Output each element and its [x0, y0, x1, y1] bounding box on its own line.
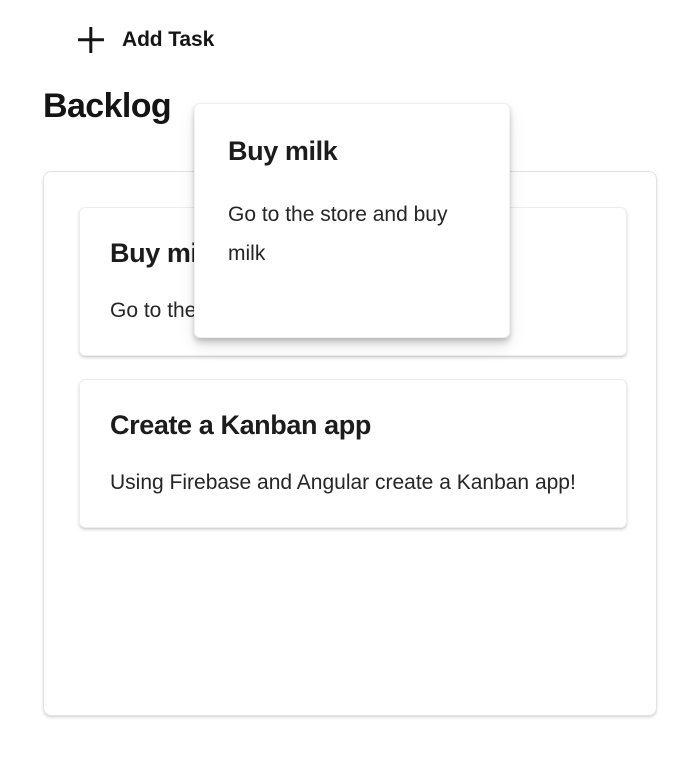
task-card-description: Using Firebase and Angular create a Kanb… — [110, 468, 596, 497]
column-title-backlog: Backlog — [43, 85, 171, 127]
add-task-label: Add Task — [122, 28, 214, 52]
add-task-button[interactable]: Add Task — [78, 20, 214, 60]
drag-preview-description: Go to the store and buy milk — [228, 195, 476, 273]
task-card[interactable]: Create a Kanban app Using Firebase and A… — [79, 379, 627, 528]
drag-preview-card[interactable]: Buy milk Go to the store and buy milk — [194, 103, 510, 338]
drag-preview-title: Buy milk — [228, 134, 476, 168]
plus-icon — [78, 27, 104, 53]
task-card-title: Create a Kanban app — [110, 408, 596, 442]
